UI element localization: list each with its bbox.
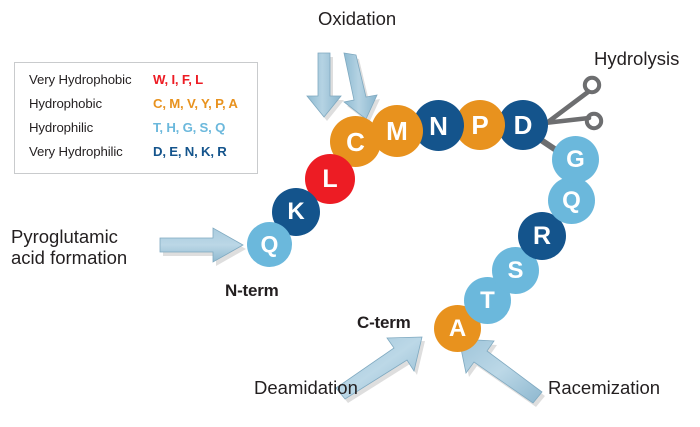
legend-codes-very-hydrophobic: W, I, F, L xyxy=(153,72,203,87)
legend-row-very-hydrophobic: Very Hydrophobic W, I, F, L xyxy=(29,72,245,96)
residue-G-9[interactable]: G xyxy=(552,136,599,183)
residue-Q-10[interactable]: Q xyxy=(548,177,595,224)
arrow-racemization-to-A xyxy=(459,339,545,407)
residue-D-8[interactable]: D xyxy=(498,100,548,150)
legend-codes-hydrophobic: C, M, V, Y, P, A xyxy=(153,96,238,111)
label-c-term: C-term xyxy=(357,313,411,333)
arrow-oxidation-to-M xyxy=(344,53,380,123)
label-oxidation: Oxidation xyxy=(318,8,396,29)
legend-row-very-hydrophilic: Very Hydrophilic D, E, N, K, R xyxy=(29,144,245,168)
legend-row-hydrophobic: Hydrophobic C, M, V, Y, P, A xyxy=(29,96,245,120)
peptide-modification-diagram: Very Hydrophobic W, I, F, L Hydrophobic … xyxy=(0,0,700,427)
legend-codes-hydrophilic: T, H, G, S, Q xyxy=(153,120,225,135)
legend-term-label: Very Hydrophilic xyxy=(29,144,153,159)
arrow-oxidation-to-C xyxy=(307,53,344,121)
label-hydrolysis: Hydrolysis xyxy=(594,48,679,69)
label-n-term: N-term xyxy=(225,281,279,301)
hydropathy-legend: Very Hydrophobic W, I, F, L Hydrophobic … xyxy=(14,62,258,174)
legend-term-label: Hydrophilic xyxy=(29,120,153,135)
residue-Q-1[interactable]: Q xyxy=(247,222,292,267)
legend-row-hydrophilic: Hydrophilic T, H, G, S, Q xyxy=(29,120,245,144)
label-pyroglutamic-acid-formation: Pyroglutamic acid formation xyxy=(11,226,127,269)
label-racemization: Racemization xyxy=(548,377,660,398)
legend-term-label: Hydrophobic xyxy=(29,96,153,111)
arrow-pyroglutamic-to-Q xyxy=(160,228,246,266)
label-deamidation: Deamidation xyxy=(254,377,358,398)
legend-term-label: Very Hydrophobic xyxy=(29,72,153,87)
legend-codes-very-hydrophilic: D, E, N, K, R xyxy=(153,144,227,159)
